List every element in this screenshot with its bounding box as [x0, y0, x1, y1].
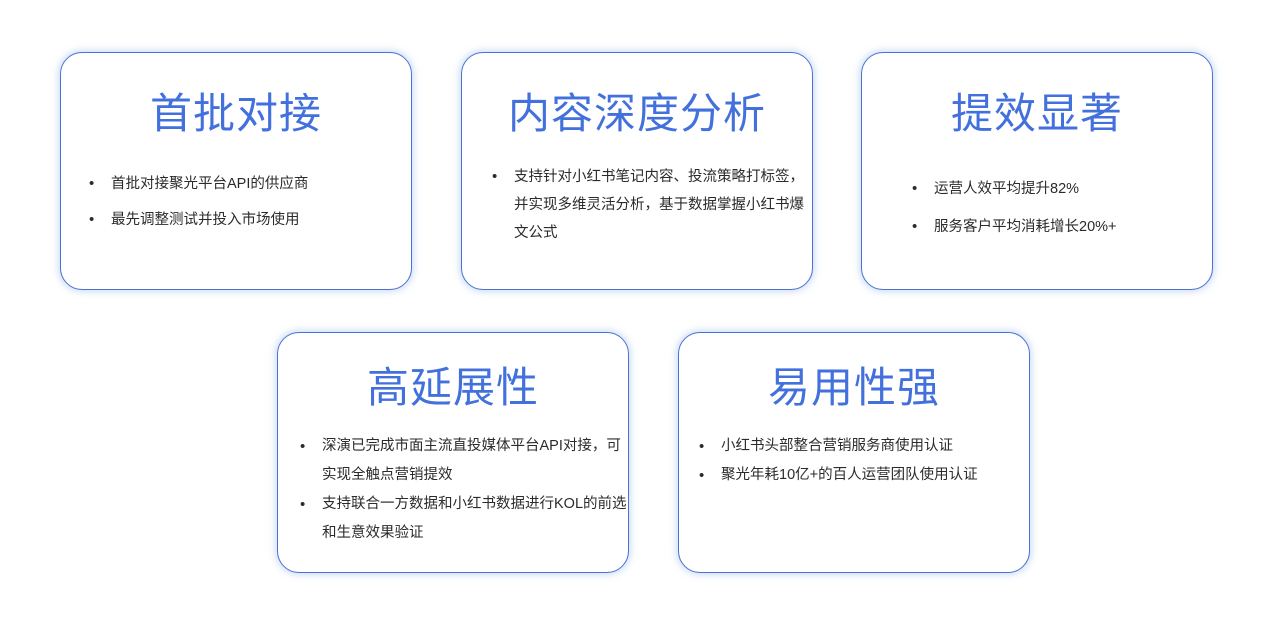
- bullet-point-icon: •: [89, 166, 111, 202]
- list-item: • 最先调整测试并投入市场使用: [89, 202, 411, 238]
- card-bullet-list: • 支持针对小红书笔记内容、投流策略打标签，并实现多维灵活分析，基于数据掌握小红…: [492, 163, 812, 247]
- bullet-text: 运营人效平均提升82%: [934, 170, 1212, 208]
- bullet-point-icon: •: [699, 432, 721, 461]
- card-title: 首批对接: [61, 91, 411, 136]
- bullet-text: 最先调整测试并投入市场使用: [111, 202, 411, 238]
- feature-card-efficiency-improvement[interactable]: 提效显著 • 运营人效平均提升82% • 服务客户平均消耗增长20%+: [861, 52, 1213, 290]
- card-title: 提效显著: [862, 91, 1212, 136]
- bullet-text: 聚光年耗10亿+的百人运营团队使用认证: [721, 461, 1029, 490]
- list-item: • 聚光年耗10亿+的百人运营团队使用认证: [699, 461, 1029, 490]
- list-item: • 支持联合一方数据和小红书数据进行KOL的前选和生意效果验证: [300, 490, 628, 548]
- bullet-text: 深演已完成市面主流直投媒体平台API对接，可实现全触点营销提效: [322, 432, 628, 490]
- list-item: • 支持针对小红书笔记内容、投流策略打标签，并实现多维灵活分析，基于数据掌握小红…: [492, 163, 812, 247]
- bullet-point-icon: •: [912, 170, 934, 208]
- bullet-text: 小红书头部整合营销服务商使用认证: [721, 432, 1029, 461]
- feature-card-content-depth-analysis[interactable]: 内容深度分析 • 支持针对小红书笔记内容、投流策略打标签，并实现多维灵活分析，基…: [461, 52, 813, 290]
- bullet-point-icon: •: [300, 490, 322, 519]
- card-title: 内容深度分析: [462, 91, 812, 136]
- list-item: • 小红书头部整合营销服务商使用认证: [699, 432, 1029, 461]
- bullet-text: 首批对接聚光平台API的供应商: [111, 166, 411, 202]
- list-item: • 深演已完成市面主流直投媒体平台API对接，可实现全触点营销提效: [300, 432, 628, 490]
- bullet-point-icon: •: [699, 461, 721, 490]
- feature-card-first-integration[interactable]: 首批对接 • 首批对接聚光平台API的供应商 • 最先调整测试并投入市场使用: [60, 52, 412, 290]
- card-title: 易用性强: [679, 365, 1029, 410]
- bullet-point-icon: •: [492, 163, 514, 191]
- list-item: • 服务客户平均消耗增长20%+: [912, 208, 1212, 246]
- bullet-point-icon: •: [89, 202, 111, 238]
- list-item: • 首批对接聚光平台API的供应商: [89, 166, 411, 202]
- bullet-text: 支持针对小红书笔记内容、投流策略打标签，并实现多维灵活分析，基于数据掌握小红书爆…: [514, 163, 812, 247]
- card-bullet-list: • 小红书头部整合营销服务商使用认证 • 聚光年耗10亿+的百人运营团队使用认证: [699, 432, 1029, 490]
- card-bullet-list: • 首批对接聚光平台API的供应商 • 最先调整测试并投入市场使用: [89, 166, 411, 238]
- list-item: • 运营人效平均提升82%: [912, 170, 1212, 208]
- bullet-point-icon: •: [912, 208, 934, 246]
- bullet-text: 服务客户平均消耗增长20%+: [934, 208, 1212, 246]
- bullet-text: 支持联合一方数据和小红书数据进行KOL的前选和生意效果验证: [322, 490, 628, 548]
- feature-card-high-extensibility[interactable]: 高延展性 • 深演已完成市面主流直投媒体平台API对接，可实现全触点营销提效 •…: [277, 332, 629, 573]
- card-title: 高延展性: [278, 365, 628, 410]
- slide-canvas: 首批对接 • 首批对接聚光平台API的供应商 • 最先调整测试并投入市场使用 内…: [0, 0, 1280, 625]
- card-bullet-list: • 深演已完成市面主流直投媒体平台API对接，可实现全触点营销提效 • 支持联合…: [300, 432, 628, 548]
- feature-card-ease-of-use[interactable]: 易用性强 • 小红书头部整合营销服务商使用认证 • 聚光年耗10亿+的百人运营团…: [678, 332, 1030, 573]
- card-bullet-list: • 运营人效平均提升82% • 服务客户平均消耗增长20%+: [912, 170, 1212, 246]
- bullet-point-icon: •: [300, 432, 322, 461]
